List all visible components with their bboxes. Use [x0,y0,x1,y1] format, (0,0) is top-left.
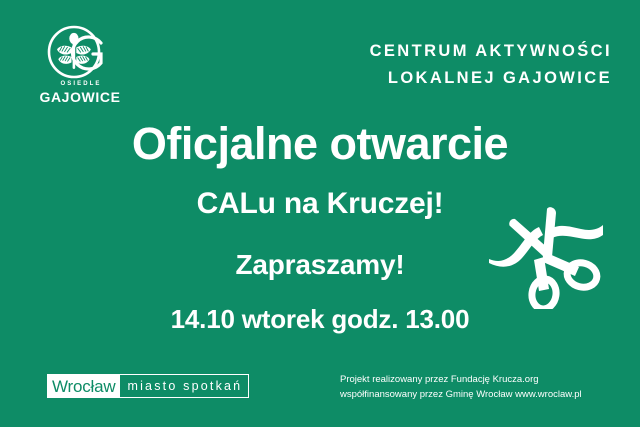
poster-header: CENTRUM AKTYWNOŚCI LOKALNEJ GAJOWICE [370,38,612,92]
credits-line-2: współfinansowany przez Gminę Wrocław www… [340,388,620,403]
logo-bottom-word: GAJOWICE [38,89,122,105]
wroclaw-name: Wrocław [48,375,120,397]
wroclaw-city-logo: Wrocław miasto spotkań [47,374,249,398]
logo-top-word: OSIEDLE [38,80,122,89]
scissors-cutting-ribbon-icon [487,193,603,309]
wroclaw-tagline: miasto spotkań [120,375,248,397]
header-line-1: CENTRUM AKTYWNOŚCI [370,38,612,65]
page-title: Oficjalne otwarcie [0,118,640,170]
footer-credits: Projekt realizowany przez Fundację Krucz… [340,373,620,402]
event-poster: OSIEDLE GAJOWICE CENTRUM AKTYWNOŚCI LOKA… [0,0,640,427]
credits-line-1: Projekt realizowany przez Fundację Krucz… [340,373,620,388]
osiedle-gajowice-wordmark: OSIEDLE GAJOWICE [38,80,122,105]
header-line-2: LOKALNEJ GAJOWICE [370,65,612,92]
osiedle-gajowice-logo: OSIEDLE GAJOWICE [38,24,122,108]
osiedle-gajowice-emblem-icon [46,24,106,80]
